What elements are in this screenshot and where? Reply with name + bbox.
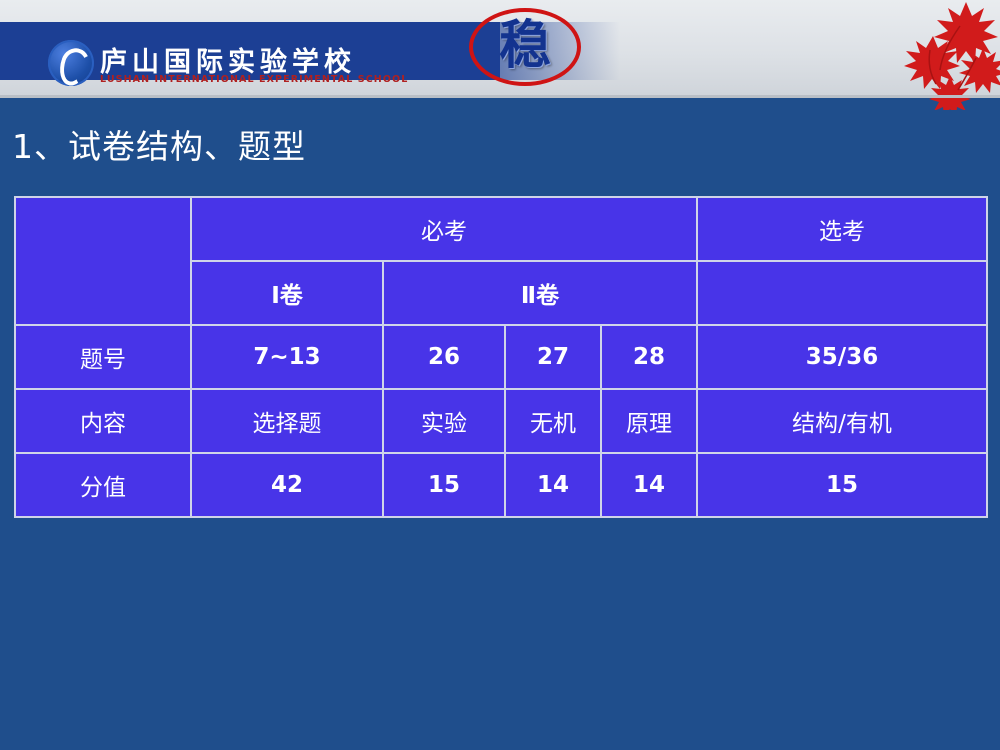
cell-content-27: 无机: [505, 389, 601, 453]
row-label-question-number: 题号: [15, 325, 191, 389]
header-paper-1: Ⅰ卷: [191, 261, 383, 325]
table-row: 分值 42 15 14 14 15: [15, 453, 987, 517]
stamp-character: 稳: [469, 8, 581, 86]
header-optional: 选考: [697, 197, 987, 261]
cell-qnum-optional: 35/36: [697, 325, 987, 389]
table-row: 必考 选考: [15, 197, 987, 261]
cell-qnum-27: 27: [505, 325, 601, 389]
cell-content-26: 实验: [383, 389, 505, 453]
cell-qnum-26: 26: [383, 325, 505, 389]
table-row: 题号 7~13 26 27 28 35/36: [15, 325, 987, 389]
header-required: 必考: [191, 197, 697, 261]
cell-qnum-28: 28: [601, 325, 697, 389]
exam-structure-table-wrapper: 必考 选考 Ⅰ卷 Ⅱ卷 题号 7~13 26 27 28 35/36 内容 选择…: [14, 196, 986, 518]
row-label-score: 分值: [15, 453, 191, 517]
cell-content-28: 原理: [601, 389, 697, 453]
cell-score-26: 15: [383, 453, 505, 517]
table-row: 内容 选择题 实验 无机 原理 结构/有机: [15, 389, 987, 453]
row-label-content: 内容: [15, 389, 191, 453]
page-title: 1、试卷结构、题型: [12, 120, 306, 168]
cell-score-27: 14: [505, 453, 601, 517]
school-name-en: LUSHAN INTERNATIONAL EXPERIMENTAL SCHOOL: [100, 74, 408, 85]
cell-score-optional: 15: [697, 453, 987, 517]
cell-score-paper1: 42: [191, 453, 383, 517]
cell-content-paper1: 选择题: [191, 389, 383, 453]
table-corner-cell: [15, 197, 191, 325]
exam-structure-table: 必考 选考 Ⅰ卷 Ⅱ卷 题号 7~13 26 27 28 35/36 内容 选择…: [14, 196, 988, 518]
school-logo-icon: [48, 40, 94, 86]
header-paper-2: Ⅱ卷: [383, 261, 697, 325]
cell-qnum-paper1: 7~13: [191, 325, 383, 389]
maple-leaves-icon: [770, 0, 1000, 110]
header-optional-spacer: [697, 261, 987, 325]
header-divider: [0, 95, 1000, 98]
slide-header: 庐山国际实验学校 LUSHAN INTERNATIONAL EXPERIMENT…: [0, 0, 1000, 97]
cell-score-28: 14: [601, 453, 697, 517]
cell-content-optional: 结构/有机: [697, 389, 987, 453]
